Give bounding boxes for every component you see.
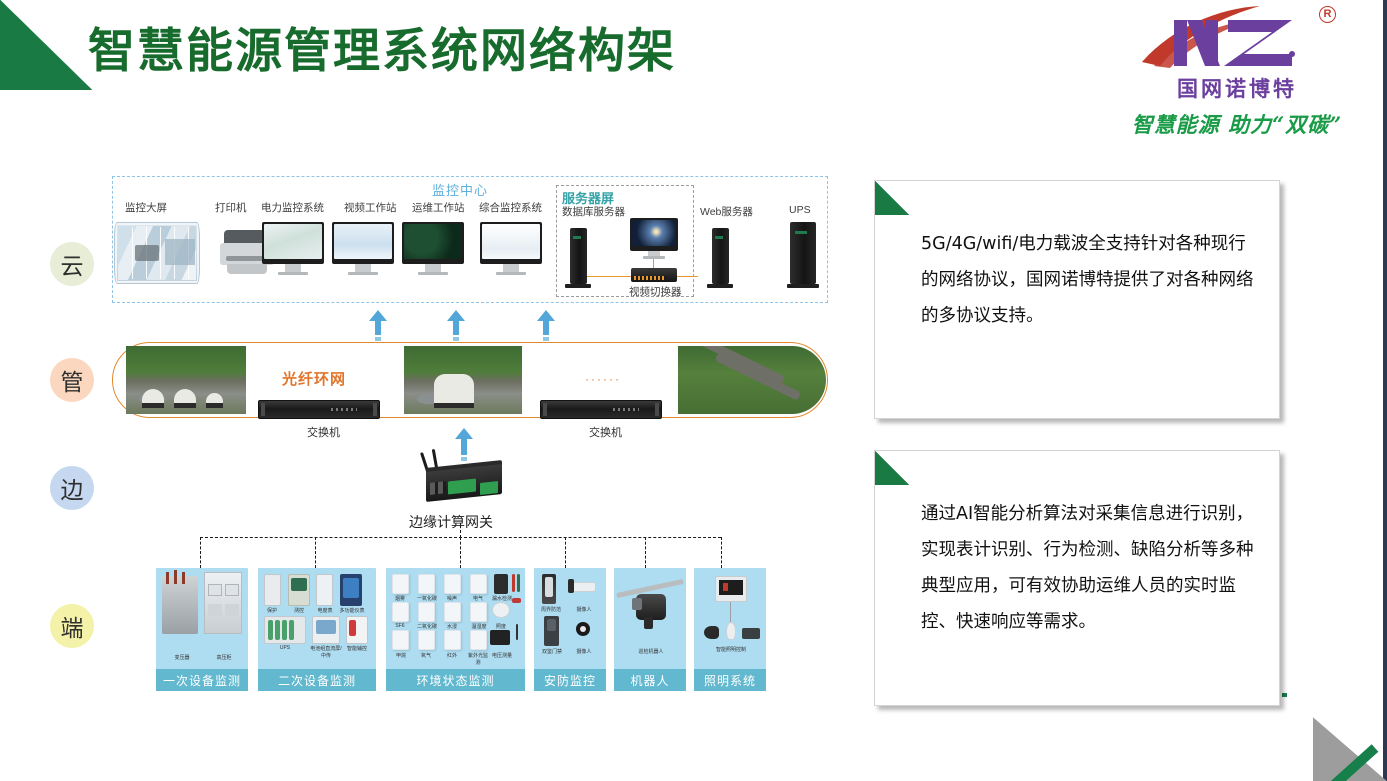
web-server-tower [712, 228, 729, 284]
tree-branch-3 [460, 537, 461, 568]
terminal-item-label: SF6 [390, 623, 410, 629]
terminal-item-label: 漏水检测 [490, 595, 514, 602]
arrow-cloud-link-3 [537, 310, 555, 341]
tree-branch-6 [721, 537, 722, 568]
card-corner-flag-icon [875, 181, 909, 215]
switch-right-label: 交换机 [589, 424, 622, 440]
layer-badge-cloud: 云 [50, 242, 94, 286]
terminal-caption-robot: 机器人 [614, 669, 686, 691]
layer-badge-terminal: 端 [50, 604, 94, 648]
tree-branch-4 [565, 537, 566, 568]
terminal-item-label: 巡检机器人 [632, 648, 670, 655]
terminal-item-label: 电池组直流屏/中传 [310, 645, 342, 659]
terminal-item-label: 紫外光监测 [468, 652, 488, 666]
terminal-group-secondary-equipment: 保护 测控 电度表 多功能仪表 UPS 电池组直流屏/中传 智能辅控 二次设备监… [258, 568, 376, 691]
page-title: 智慧能源管理系统网络构架 [88, 12, 676, 81]
info-card-network-protocol-text: 5G/4G/wifi/电力载波全支持针对各种现行的网络协议，国网诺博特提供了对各… [921, 227, 1255, 335]
ups-device [790, 222, 816, 284]
terminal-item-label: 二氧化碳 [414, 623, 440, 630]
device-label-video-wall: 监控大屏 [125, 200, 167, 215]
terminal-item-label: UPS [276, 645, 294, 651]
device-label-web-server: Web服务器 [700, 204, 753, 219]
terminal-caption-lighting-system: 照明系统 [694, 669, 766, 691]
slide-canvas: 智慧能源管理系统网络构架 R 国网诺博特 智慧能源 助力“双碳” 云 管 边 端… [0, 0, 1387, 781]
monitoring-center-label: 监控中心 [432, 180, 488, 199]
terminal-item-label: 摄像人 [570, 648, 598, 655]
terminal-item-label: 氧气 [416, 652, 436, 659]
terminal-item-label: 智能辅控 [344, 645, 370, 652]
terminal-item-label: 变压器 [164, 654, 200, 661]
registered-trademark-icon: R [1319, 6, 1336, 23]
top-left-corner-decoration [0, 0, 92, 90]
edge-gateway-label: 边缘计算网关 [409, 512, 493, 532]
terminal-caption-primary-equipment: 一次设备监测 [156, 669, 248, 691]
network-photo-tunnel-left [126, 346, 246, 414]
monitor-integrated-monitor [480, 222, 542, 264]
terminal-item-label: 噪声 [442, 595, 462, 602]
terminal-item-label: 甲烷 [390, 652, 412, 659]
terminal-item-label: 多功能仪表 [338, 607, 366, 614]
device-label-integrated-monitor: 综合监控系统 [479, 200, 542, 215]
terminal-caption-secondary-equipment: 二次设备监测 [258, 669, 376, 691]
tree-branch-2 [315, 537, 316, 568]
terminal-item-label: 电气 [468, 595, 488, 602]
switch-left-device [258, 400, 380, 419]
arrow-cloud-link-1 [369, 310, 387, 341]
terminal-item-label: 电压测量 [486, 652, 518, 659]
terminal-item-label: 智能照明控制 [710, 646, 752, 653]
terminal-item-label: 一氧化碳 [414, 595, 440, 602]
terminal-item-label: 摄像人 [570, 606, 598, 613]
network-ellipsis-label: ······ [585, 372, 621, 386]
terminal-item-label: 红外 [442, 652, 462, 659]
switch-right-device [540, 400, 662, 419]
monitor-video-workstation [332, 222, 394, 264]
device-label-video-switcher: 视频切换器 [629, 284, 682, 299]
bottom-right-dot [1282, 693, 1287, 697]
device-label-db-server: 数据库服务器 [562, 204, 625, 219]
company-logo: R 国网诺博特 智慧能源 助力“双碳” [1117, 4, 1357, 136]
network-photo-tunnel-right [678, 346, 826, 414]
right-edge-bar [1383, 0, 1387, 781]
server-monitor [630, 218, 678, 251]
device-label-ops-workstation: 运维工作站 [412, 200, 465, 215]
info-card-network-protocol: 5G/4G/wifi/电力载波全支持针对各种现行的网络协议，国网诺博特提供了对各… [874, 180, 1280, 419]
info-card-ai-analysis-text: 通过AI智能分析算法对采集信息进行识别，实现表计识别、行为检测、缺陷分析等多种典… [921, 497, 1255, 641]
terminal-group-environment-monitoring: 烟雾 一氧化碳 噪声 电气 漏水检测 SF6 二氧化碳 水浸 温湿度 照度 甲烷… [386, 568, 525, 691]
terminal-item-label: 高压柜 [206, 654, 242, 661]
layer-badge-edge: 边 [50, 466, 94, 510]
terminal-item-label: 双鉴门禁 [536, 648, 568, 655]
logo-glyph-icon [1132, 4, 1342, 76]
info-card-ai-analysis: 通过AI智能分析算法对采集信息进行识别，实现表计识别、行为检测、缺陷分析等多种典… [874, 450, 1280, 706]
terminal-group-security-monitoring: 周界防范 摄像人 双鉴门禁 摄像人 安防监控 [534, 568, 606, 691]
terminal-item-label: 温湿度 [468, 623, 490, 630]
terminal-item-label: 保护 [262, 607, 282, 614]
logo-brand-name: 国网诺博特 [1117, 73, 1357, 103]
tree-branch-1 [200, 537, 201, 568]
terminal-group-robot: 巡检机器人 机器人 [614, 568, 686, 691]
terminal-item-label: 周界防范 [536, 606, 566, 613]
terminal-group-primary-equipment: 变压器 高压柜 一次设备监测 [156, 568, 248, 691]
database-server-tower [570, 228, 587, 284]
device-label-printer: 打印机 [215, 200, 247, 215]
layer-badge-network: 管 [50, 358, 94, 402]
monitor-power-monitor [262, 222, 324, 264]
terminal-caption-environment-monitoring: 环境状态监测 [386, 669, 525, 691]
card-corner-flag-icon [875, 451, 909, 485]
device-label-video-workstation: 视频工作站 [344, 200, 397, 215]
network-photo-tunnel-mid [404, 346, 522, 414]
terminal-item-label: 照度 [490, 623, 512, 630]
terminal-item-label: 测控 [288, 607, 310, 614]
switch-left-label: 交换机 [307, 424, 340, 440]
arrow-cloud-link-2 [447, 310, 465, 341]
terminal-group-lighting-system: 智能照明控制 照明系统 [694, 568, 766, 691]
device-label-ups: UPS [789, 204, 811, 216]
terminal-item-label: 电度表 [314, 607, 336, 614]
edge-computing-gateway-device [418, 458, 504, 502]
video-wall-display [114, 222, 200, 284]
device-label-power-monitor: 电力监控系统 [261, 200, 324, 215]
fiber-ring-label: 光纤环网 [282, 368, 346, 389]
tree-branch-5 [645, 537, 646, 568]
terminal-item-label: 水浸 [442, 623, 462, 630]
arrow-edge-link [455, 428, 473, 461]
logo-tagline: 智慧能源 助力“双碳” [1117, 109, 1357, 139]
terminal-caption-security-monitoring: 安防监控 [534, 669, 606, 691]
terminal-item-label: 烟雾 [390, 595, 410, 602]
monitor-ops-workstation [402, 222, 464, 264]
logo-mark: R [1132, 4, 1342, 76]
video-switcher-device [631, 268, 677, 282]
